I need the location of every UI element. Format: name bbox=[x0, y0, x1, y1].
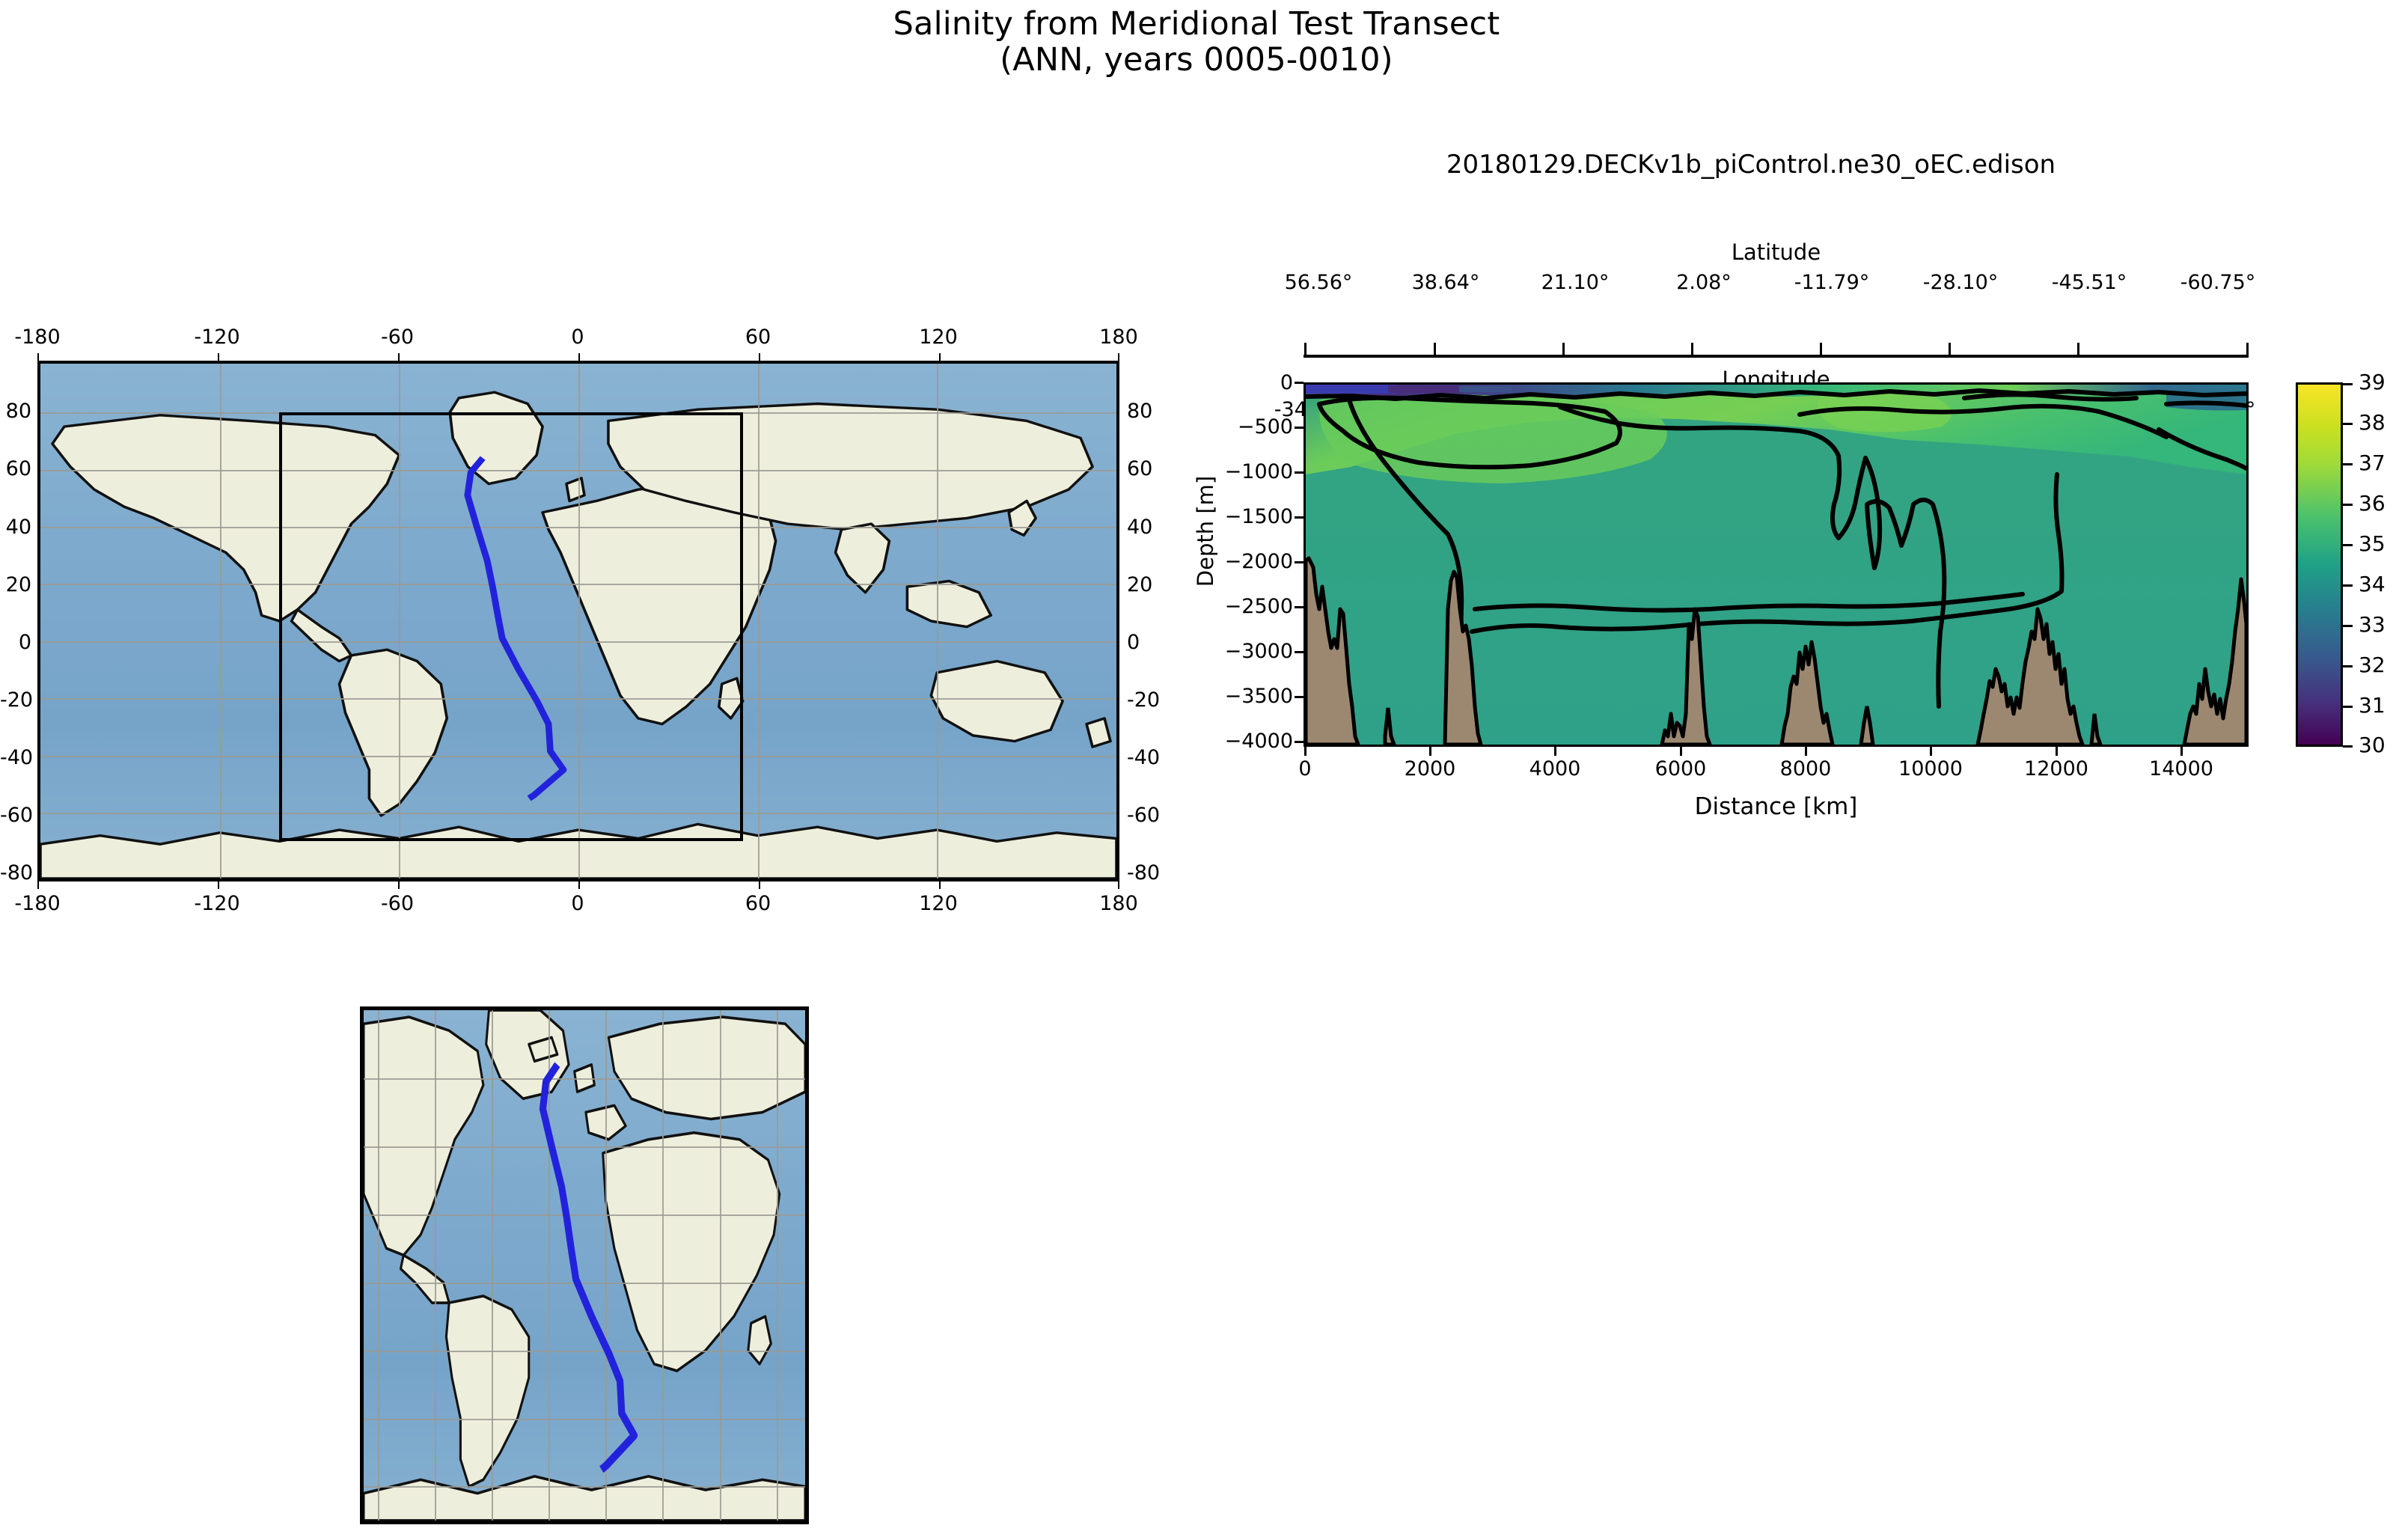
map-xtick-bottom: -180 bbox=[0, 892, 82, 915]
map-xtick-bottom: -120 bbox=[172, 892, 262, 915]
distance-tick-mark bbox=[1429, 747, 1431, 756]
transect-line bbox=[40, 364, 1116, 879]
secondary-axis-tick bbox=[1304, 343, 1306, 355]
colorbar-gradient[interactable] bbox=[2296, 382, 2343, 747]
secondary-axis-tick bbox=[2077, 343, 2079, 355]
colorbar-tick-mark bbox=[2343, 584, 2353, 587]
colorbar-tick-mark bbox=[2343, 383, 2353, 385]
depth-tick-mark bbox=[1295, 471, 1304, 474]
depth-tick: −2000 bbox=[1212, 550, 1293, 573]
distance-tick: 6000 bbox=[1636, 757, 1726, 780]
map-ytick-right: 80 bbox=[1127, 400, 1152, 423]
depth-tick: −1000 bbox=[1212, 460, 1293, 483]
secondary-axis-tick bbox=[1949, 343, 1951, 355]
secondary-axis-tick bbox=[1691, 343, 1693, 355]
map-xtick-top: -120 bbox=[172, 326, 262, 349]
map-xtick-mark bbox=[578, 353, 580, 361]
map-xtick-bottom: 0 bbox=[533, 892, 623, 915]
distance-tick: 10000 bbox=[1886, 757, 1975, 780]
distance-tick-mark bbox=[1304, 747, 1306, 756]
map-ytick-right: 0 bbox=[1127, 631, 1140, 654]
map-xtick-top: 60 bbox=[713, 326, 803, 349]
map-ytick-right: -40 bbox=[1127, 746, 1160, 769]
depth-tick-mark bbox=[1295, 427, 1304, 429]
depth-tick-mark bbox=[1295, 516, 1304, 519]
colorbar-tick: 37 bbox=[2359, 450, 2386, 475]
depth-tick: −3000 bbox=[1212, 640, 1293, 663]
map-ytick-right: 20 bbox=[1127, 573, 1152, 596]
colorbar-tick: 31 bbox=[2359, 693, 2386, 718]
colorbar-tick: 38 bbox=[2359, 410, 2386, 435]
distance-tick-mark bbox=[1930, 747, 1932, 756]
map-xtick-mark bbox=[218, 881, 219, 889]
distance-tick: 8000 bbox=[1761, 757, 1850, 780]
map-xtick-top: 120 bbox=[893, 326, 983, 349]
distance-tick-mark bbox=[2056, 747, 2058, 756]
latitude-tick: 21.10° bbox=[1515, 271, 1635, 294]
map-ytick-left: 40 bbox=[0, 516, 31, 539]
map-ytick-left: 20 bbox=[0, 573, 31, 596]
colorbar-tick: 35 bbox=[2359, 531, 2386, 556]
latitude-tick: -60.75° bbox=[2158, 271, 2278, 294]
map-xtick-bottom: 180 bbox=[1074, 892, 1164, 915]
distance-tick: 12000 bbox=[2011, 757, 2101, 780]
colorbar-tick: 36 bbox=[2359, 491, 2386, 516]
colorbar-tick-mark bbox=[2343, 544, 2353, 546]
map-xtick-mark bbox=[578, 881, 580, 889]
colorbar-tick: 32 bbox=[2359, 653, 2386, 677]
latitude-tick: 38.64° bbox=[1386, 271, 1506, 294]
colorbar-tick-mark bbox=[2343, 706, 2353, 708]
colorbar-tick-mark bbox=[2343, 504, 2353, 506]
secondary-axis-tick bbox=[2246, 343, 2249, 355]
secondary-axis-line bbox=[1304, 355, 2249, 358]
global-map-axes[interactable] bbox=[37, 361, 1119, 881]
map-ytick-right: -60 bbox=[1127, 804, 1160, 827]
distance-tick-mark bbox=[1805, 747, 1807, 756]
depth-tick: −500 bbox=[1212, 415, 1293, 439]
depth-tick-mark bbox=[1295, 561, 1304, 563]
map-ytick-left: -60 bbox=[0, 804, 31, 827]
distance-tick: 0 bbox=[1260, 757, 1350, 780]
map-xtick-mark bbox=[759, 881, 760, 889]
map-xtick-mark bbox=[37, 881, 39, 889]
map-ytick-left: 0 bbox=[0, 631, 31, 654]
latitude-tick: 2.08° bbox=[1644, 271, 1764, 294]
colorbar-tick-mark bbox=[2343, 423, 2353, 425]
map-xtick-top: 180 bbox=[1074, 326, 1164, 349]
figure-title: Salinity from Meridional Test Transect (… bbox=[0, 6, 2393, 78]
map-ytick-left: -20 bbox=[0, 688, 31, 712]
map-ytick-right: -80 bbox=[1127, 861, 1160, 884]
secondary-axis-tick bbox=[1562, 343, 1565, 355]
map-ytick-left: -80 bbox=[0, 861, 31, 884]
colorbar-tick: 39 bbox=[2359, 370, 2386, 394]
depth-tick: −4000 bbox=[1212, 730, 1293, 753]
run-name-subtitle: 20180129.DECKv1b_piControl.ne30_oEC.edis… bbox=[1197, 150, 2305, 180]
distance-tick: 14000 bbox=[2136, 757, 2226, 780]
figure-title-line2: (ANN, years 0005-0010) bbox=[0, 42, 2393, 78]
map-xtick-bottom: -60 bbox=[352, 892, 442, 915]
map-xtick-mark bbox=[398, 353, 400, 361]
depth-tick-mark bbox=[1295, 651, 1304, 653]
colorbar-tick-mark bbox=[2343, 745, 2353, 748]
map-ytick-left: 60 bbox=[0, 457, 31, 480]
transect-axes[interactable] bbox=[1304, 382, 2249, 747]
map-ytick-left: 80 bbox=[0, 400, 31, 423]
map-xtick-bottom: 120 bbox=[893, 892, 983, 915]
global-map-panel: -180 -120 -60 0 60 120 180 -180 -120 -60… bbox=[0, 322, 1167, 913]
depth-tick: −3500 bbox=[1212, 685, 1293, 708]
distance-tick: 2000 bbox=[1385, 757, 1475, 780]
map-xtick-mark bbox=[218, 353, 219, 361]
map-xtick-top: -60 bbox=[352, 326, 442, 349]
distance-tick-mark bbox=[1554, 747, 1556, 756]
depth-tick-mark bbox=[1295, 382, 1304, 384]
depth-tick: 0 bbox=[1212, 371, 1293, 394]
map-xtick-mark bbox=[1118, 353, 1119, 361]
distance-tick: 4000 bbox=[1510, 757, 1600, 780]
distance-tick-mark bbox=[2180, 747, 2183, 756]
colorbar-tick-mark bbox=[2343, 463, 2353, 465]
latitude-tick: 56.56° bbox=[1259, 271, 1378, 294]
map-ytick-left: -40 bbox=[0, 746, 31, 769]
inset-transect-line bbox=[364, 1010, 805, 1521]
depth-tick-mark bbox=[1295, 606, 1304, 608]
depth-tick: −2500 bbox=[1212, 595, 1293, 618]
map-ytick-right: -20 bbox=[1127, 688, 1160, 712]
depth-tick-mark bbox=[1295, 696, 1304, 698]
map-ytick-right: 40 bbox=[1127, 516, 1152, 539]
atlantic-inset-map[interactable] bbox=[360, 1006, 809, 1524]
map-ytick-right: 60 bbox=[1127, 457, 1152, 480]
secondary-axis-tick bbox=[1434, 343, 1436, 355]
colorbar-tick-mark bbox=[2343, 625, 2353, 627]
latitude-tick: -45.51° bbox=[2029, 271, 2149, 294]
colorbar-tick: 30 bbox=[2359, 733, 2386, 757]
colorbar-tick: 34 bbox=[2359, 572, 2386, 596]
secondary-axis-tick bbox=[1820, 343, 1822, 355]
depth-tick: −1500 bbox=[1212, 505, 1293, 528]
map-xtick-mark bbox=[939, 881, 941, 889]
latitude-tick: -28.10° bbox=[1901, 271, 2020, 294]
transect-panel: Latitude 56.56° 38.64° 21.10° 2.08° -11.… bbox=[1197, 224, 2393, 928]
figure-title-line1: Salinity from Meridional Test Transect bbox=[0, 6, 2393, 42]
map-xtick-mark bbox=[1118, 881, 1119, 889]
colorbar-tick: 33 bbox=[2359, 612, 2386, 637]
map-xtick-mark bbox=[398, 881, 400, 889]
map-xtick-mark bbox=[759, 353, 760, 361]
map-xtick-top: -180 bbox=[0, 326, 82, 349]
latitude-tick: -11.79° bbox=[1772, 271, 1892, 294]
latitude-axis-label: Latitude bbox=[1304, 239, 2249, 265]
map-xtick-top: 0 bbox=[533, 326, 623, 349]
distance-axis-label: Distance [km] bbox=[1304, 793, 2249, 820]
colorbar-tick-mark bbox=[2343, 665, 2353, 667]
map-xtick-mark bbox=[939, 353, 941, 361]
salinity-field bbox=[1306, 385, 2246, 745]
depth-tick-mark bbox=[1295, 741, 1304, 743]
map-xtick-bottom: 60 bbox=[713, 892, 803, 915]
distance-tick-mark bbox=[1680, 747, 1682, 756]
map-xtick-mark bbox=[37, 353, 39, 361]
